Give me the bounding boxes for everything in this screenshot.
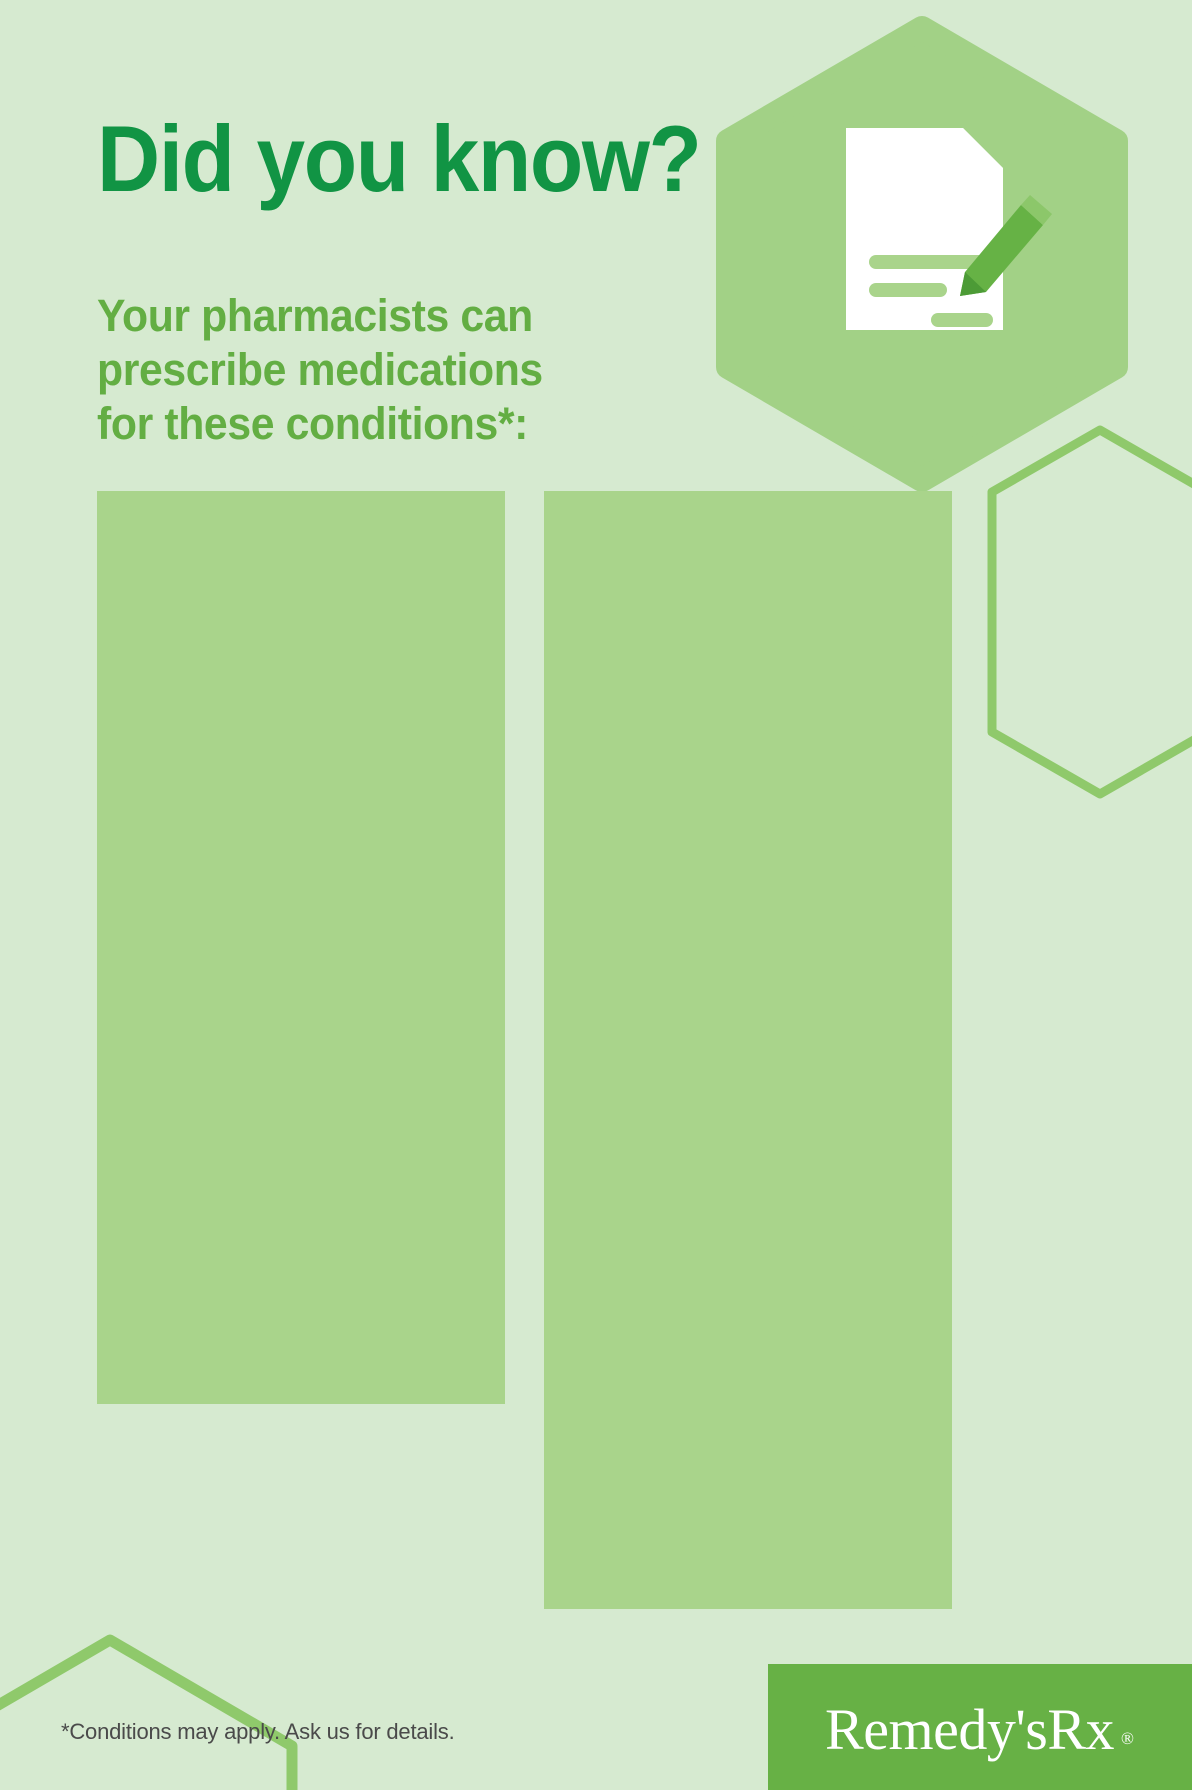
page-subtitle: Your pharmacists can prescribe medicatio… bbox=[97, 289, 629, 451]
content-panel-right bbox=[544, 491, 952, 1609]
hexagon-outline-bottom-left bbox=[0, 1640, 292, 1790]
content-panel-left bbox=[97, 491, 505, 1404]
registered-trademark-icon: ® bbox=[1121, 1729, 1134, 1749]
poster-root: Did you know? Your pharmacists can presc… bbox=[0, 0, 1192, 1790]
page-subtitle-line-1: Your pharmacists can bbox=[97, 289, 629, 343]
rx-prescription-document-with-pencil-icon bbox=[846, 128, 1052, 330]
brand-logo-wrap: Remedy'sRx® bbox=[768, 1664, 1192, 1790]
brand-logo-box: Remedy'sRx® bbox=[768, 1664, 1192, 1790]
page-subtitle-line-2: prescribe medications bbox=[97, 343, 629, 397]
hexagon-badge bbox=[728, 28, 1116, 480]
footnote-disclaimer: *Conditions may apply. Ask us for detail… bbox=[61, 1720, 455, 1744]
page-title: Did you know? bbox=[97, 112, 674, 206]
hexagon-outline-right-edge bbox=[992, 430, 1192, 794]
page-subtitle-line-3: for these conditions*: bbox=[97, 397, 629, 451]
brand-logo-text: Remedy'sRx bbox=[825, 1696, 1114, 1763]
